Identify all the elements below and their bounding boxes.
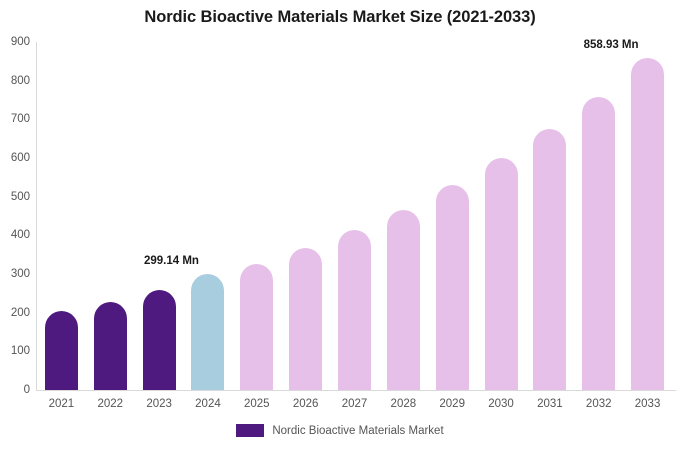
y-axis-tick-label: 200 [11, 307, 37, 319]
value-label-2024: 299.14 Mn [144, 255, 199, 267]
x-axis-tick-label: 2027 [330, 398, 379, 410]
y-axis-tick-label: 100 [11, 345, 37, 357]
bar-2022[interactable] [94, 302, 127, 390]
x-axis-tick-label: 2028 [379, 398, 428, 410]
bar-2031[interactable] [533, 129, 566, 390]
x-axis-tick-label: 2032 [574, 398, 623, 410]
plot-area: 0100200300400500600700800900 [37, 42, 672, 390]
chart-legend: Nordic Bioactive Materials Market [0, 424, 680, 437]
bar-2024[interactable] [191, 274, 224, 390]
chart-container: Nordic Bioactive Materials Market Size (… [0, 0, 680, 450]
y-axis-tick-label: 600 [11, 152, 37, 164]
x-axis-tick-label: 2021 [37, 398, 86, 410]
bar-2032[interactable] [582, 97, 615, 390]
x-axis-tick-label: 2023 [135, 398, 184, 410]
bar-2030[interactable] [485, 158, 518, 390]
y-axis-tick-label: 400 [11, 229, 37, 241]
x-axis-tick-label: 2025 [232, 398, 281, 410]
chart-title: Nordic Bioactive Materials Market Size (… [0, 8, 680, 27]
bar-2028[interactable] [387, 210, 420, 390]
x-axis-tick-label: 2022 [86, 398, 135, 410]
legend-swatch [236, 424, 264, 437]
y-axis-tick-label: 0 [24, 384, 37, 396]
y-axis-tick-label: 900 [11, 36, 37, 48]
x-axis-tick-label: 2030 [477, 398, 526, 410]
bar-2029[interactable] [436, 185, 469, 390]
x-axis-tick-label: 2033 [623, 398, 672, 410]
x-axis-tick-label: 2029 [428, 398, 477, 410]
x-axis-tick-label: 2024 [184, 398, 233, 410]
x-axis-tick-label: 2031 [525, 398, 574, 410]
y-axis-tick-label: 300 [11, 268, 37, 280]
x-axis-line [36, 390, 676, 391]
y-axis-tick-label: 500 [11, 191, 37, 203]
bar-2027[interactable] [338, 230, 371, 390]
bar-2023[interactable] [143, 290, 176, 390]
y-axis-tick-label: 700 [11, 113, 37, 125]
legend-label: Nordic Bioactive Materials Market [272, 425, 443, 437]
bar-2026[interactable] [289, 248, 322, 390]
bar-2021[interactable] [45, 311, 78, 390]
bar-2025[interactable] [240, 264, 273, 390]
bar-2033[interactable] [631, 58, 664, 390]
value-label-2033: 858.93 Mn [584, 39, 639, 51]
y-axis-tick-label: 800 [11, 75, 37, 87]
x-axis-tick-label: 2026 [281, 398, 330, 410]
